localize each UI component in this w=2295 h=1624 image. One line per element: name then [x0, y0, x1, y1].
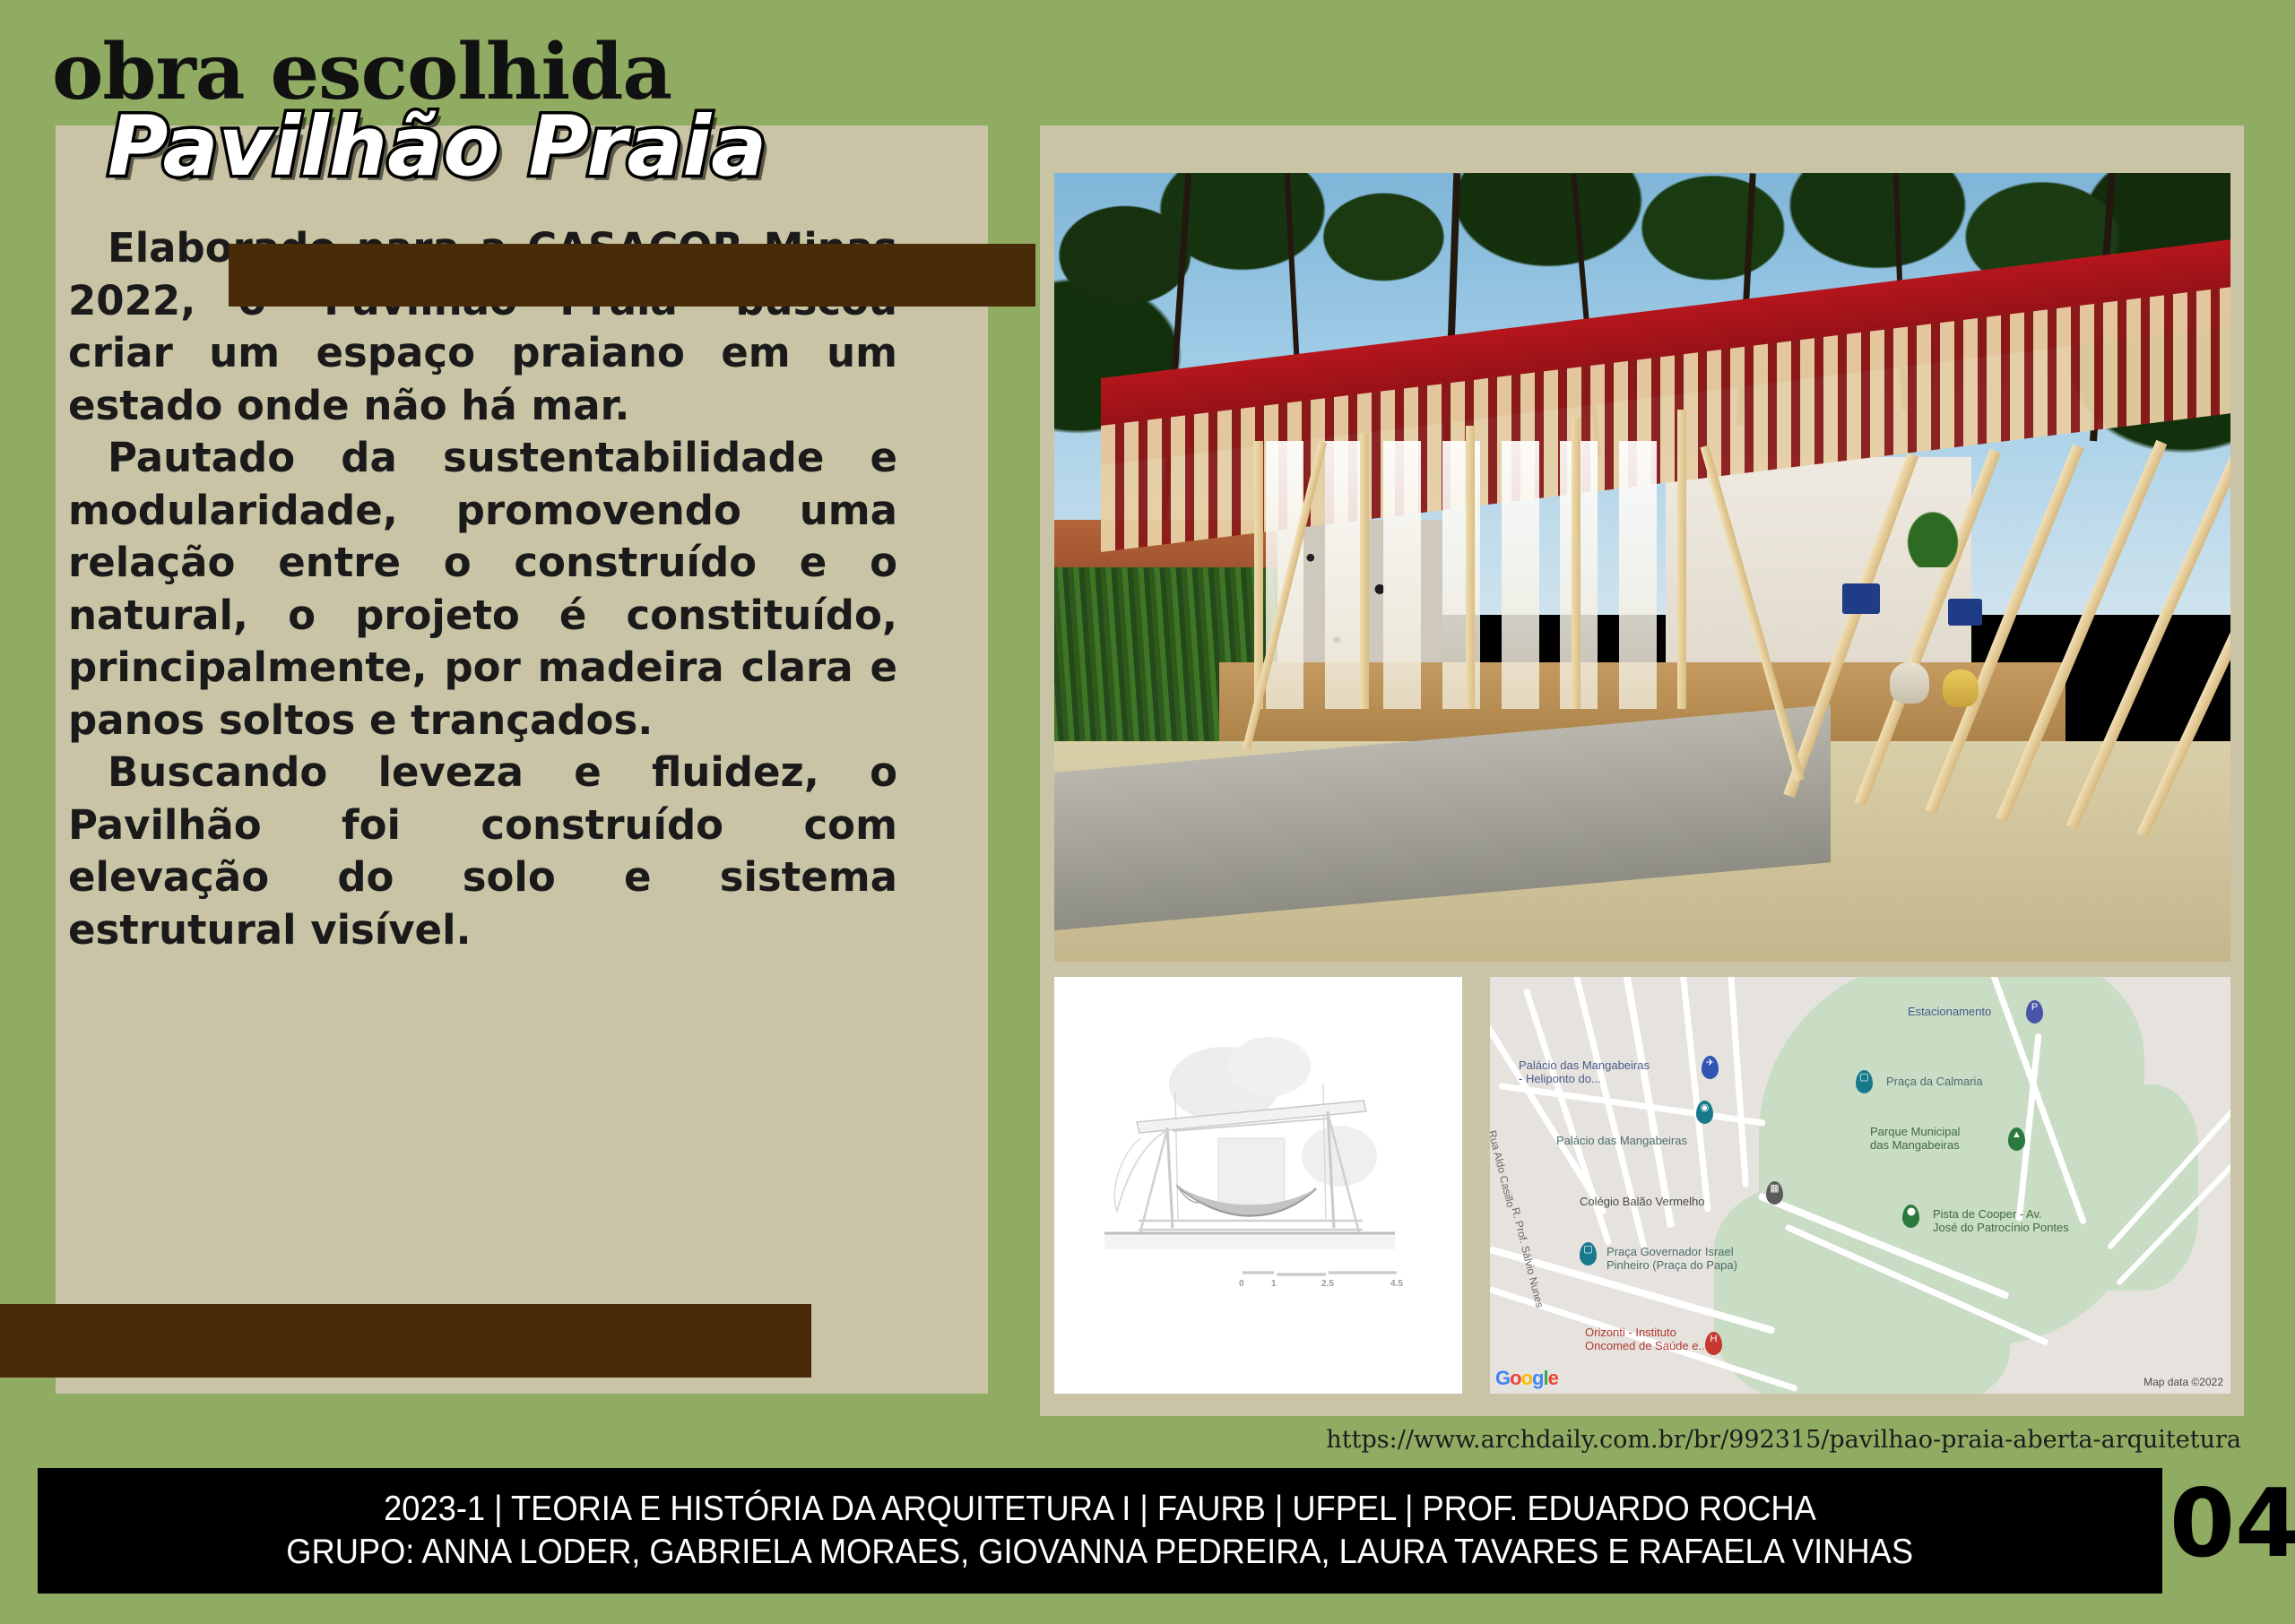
- slide-canvas: obra escolhida Pavilhão Praia Elaborado …: [0, 0, 2295, 1624]
- map-label-pista-cooper: Pista de Cooper - Av.José do Patrocínio …: [1933, 1208, 2069, 1235]
- body-text-block: Elaborado para a CASACOR Minas 2022, o ‘…: [68, 222, 897, 956]
- map-label-estacionamento: Estacionamento: [1908, 1006, 1991, 1019]
- scale-label-2: 2.5: [1321, 1279, 1334, 1289]
- accent-bar-top: [229, 244, 1035, 307]
- photo-potted-plant: [1901, 505, 1964, 567]
- hospital-h-icon: H: [1705, 1335, 1722, 1344]
- pavilion-photo: [1054, 173, 2230, 962]
- map-label-calmaria: Praça da Calmaria: [1886, 1075, 1983, 1089]
- calmaria-pin-icon[interactable]: ▢: [1856, 1070, 1873, 1093]
- heliport-pin-icon[interactable]: ✈: [1702, 1056, 1719, 1079]
- page-eyebrow: obra escolhida: [52, 34, 671, 111]
- map-label-palacio-mangabeiras: Palácio das Mangabeiras: [1556, 1135, 1687, 1148]
- tree-icon: ▲: [2008, 1130, 2025, 1140]
- photo-blue-chair: [1842, 583, 1880, 614]
- parking-pin-icon[interactable]: P: [2026, 1000, 2043, 1024]
- map-label-praca-papa: Praça Governador IsraelPinheiro (Praça d…: [1606, 1246, 1737, 1273]
- accent-bar-bottom: [0, 1304, 811, 1378]
- photo-ceramic-pot-2: [1943, 669, 1979, 707]
- attraction-pin-icon[interactable]: ◉: [1696, 1101, 1713, 1124]
- page-number: 04: [2169, 1477, 2295, 1571]
- map-label-palacio-heliponto: Palácio das Mangabeiras- Heliponto do...: [1519, 1059, 1650, 1086]
- footer-course-line: 2023-1 | TEORIA E HISTÓRIA DA ARQUITETUR…: [384, 1488, 1816, 1531]
- footer-group-line: GRUPO: ANNA LODER, GABRIELA MORAES, GIOV…: [287, 1531, 1914, 1574]
- paragraph-2: Pautado da sustentabilidade e modularida…: [68, 432, 897, 747]
- paragraph-3: Buscando leveza e fluidez, o Pavilhão fo…: [68, 747, 897, 956]
- map-label-parque-municipal: Parque Municipaldas Mangabeiras: [1870, 1126, 1960, 1153]
- google-logo: Google: [1495, 1367, 1558, 1390]
- scale-label-3: 4.5: [1390, 1279, 1403, 1289]
- map-attribution: Map data ©2022: [2143, 1376, 2223, 1388]
- plaza-pin-icon[interactable]: ▢: [1580, 1242, 1597, 1266]
- scale-label-1: 1: [1271, 1279, 1277, 1289]
- cooper-pin-icon[interactable]: [1902, 1205, 1919, 1228]
- park-icon: ▢: [1580, 1245, 1597, 1255]
- location-map[interactable]: Palácio das Mangabeiras- Heliponto do...…: [1490, 977, 2230, 1394]
- scale-bar-labels: 0 1 2.5 4.5: [1239, 1279, 1403, 1289]
- map-label-orizonti: Orizonti - InstitutoOncomed de Saúde e..…: [1585, 1326, 1708, 1353]
- photo-ceramic-pot-1: [1890, 662, 1929, 704]
- school-pin-icon[interactable]: ▦: [1766, 1181, 1783, 1205]
- hospital-pin-icon[interactable]: H: [1705, 1332, 1722, 1355]
- airplane-icon: ✈: [1702, 1058, 1719, 1068]
- map-label-colegio: Colégio Balão Vermelho: [1580, 1196, 1704, 1209]
- park-bench-icon: ▢: [1856, 1073, 1873, 1083]
- building-icon: ▦: [1766, 1184, 1783, 1194]
- circle-dot-icon: [1907, 1207, 1915, 1215]
- scale-label-0: 0: [1239, 1279, 1244, 1289]
- parking-p-icon: P: [2026, 1003, 2043, 1013]
- photo-blue-chair-2: [1948, 599, 1982, 626]
- scale-bar: [1243, 1273, 1397, 1274]
- footer-bar: 2023-1 | TEORIA E HISTÓRIA DA ARQUITETUR…: [38, 1468, 2162, 1594]
- camera-icon: ◉: [1696, 1103, 1713, 1113]
- section-drawing-svg: 0 1 2.5 4.5: [1054, 977, 1462, 1394]
- section-drawing: 0 1 2.5 4.5: [1054, 977, 1462, 1394]
- park-pin-icon[interactable]: ▲: [2008, 1127, 2025, 1151]
- source-url[interactable]: https://www.archdaily.com.br/br/992315/p…: [1291, 1426, 2241, 1454]
